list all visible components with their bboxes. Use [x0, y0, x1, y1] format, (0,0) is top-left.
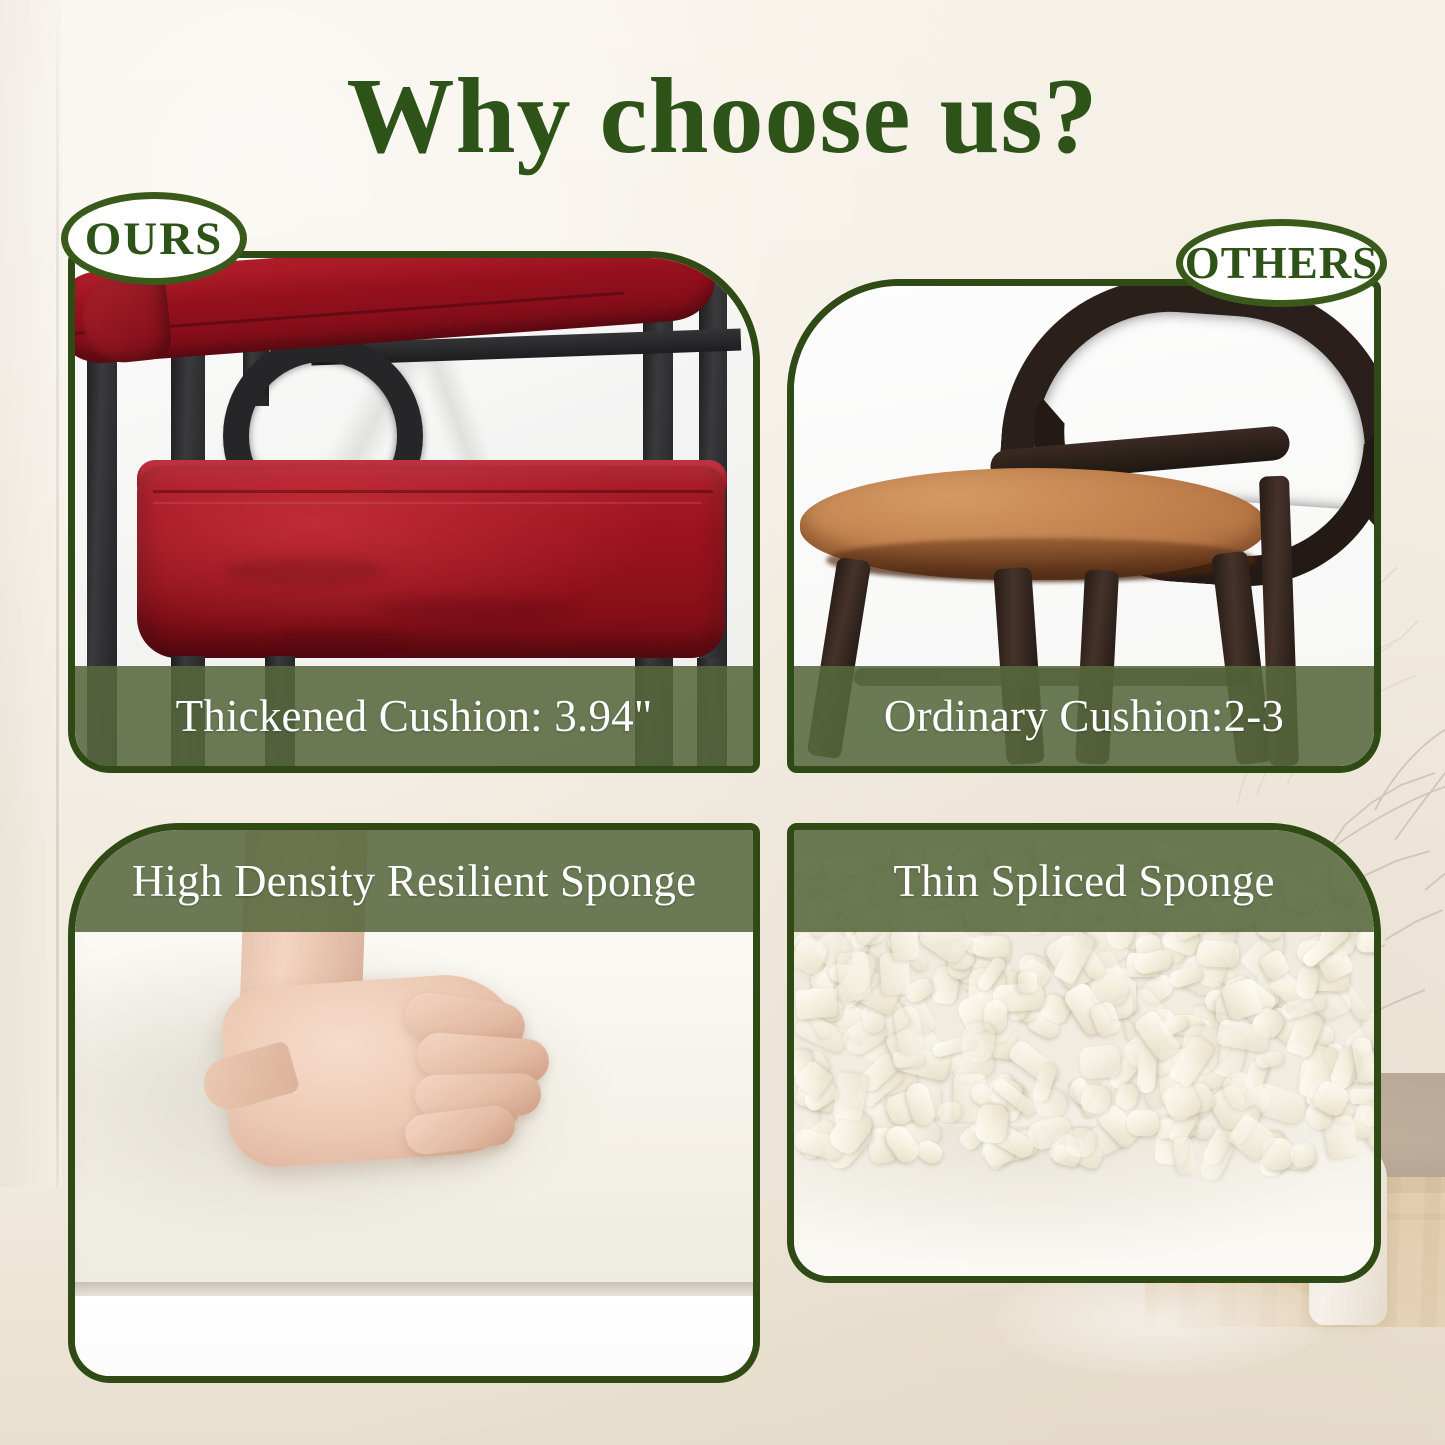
- page-title: Why choose us?: [0, 58, 1445, 177]
- panel-others-sponge: Thin Spliced Sponge: [787, 823, 1381, 1283]
- foam-base-surface: [75, 1296, 753, 1376]
- seat-wrinkle: [225, 558, 385, 584]
- infographic-canvas: Why choose us?: [0, 0, 1445, 1445]
- seat-underside-shadow: [826, 538, 1256, 582]
- foam-chunk: [837, 951, 872, 1001]
- background-wall-seam: [56, 0, 59, 1260]
- seat-wrinkle: [275, 628, 405, 646]
- foam-chunk: [795, 988, 838, 1020]
- foam-chunk: [975, 1103, 1010, 1144]
- foam-chunk: [973, 935, 1011, 957]
- foam-chunk: [1126, 1109, 1160, 1136]
- panel-ours-sponge: High Density Resilient Sponge: [68, 823, 760, 1383]
- seat-wrinkle: [375, 598, 575, 620]
- foam-chunk: [1078, 1044, 1121, 1080]
- caption-others-cushion: Ordinary Cushion:2-3: [794, 666, 1374, 766]
- seat-highlight-line: [153, 502, 701, 504]
- caption-ours-cushion: Thickened Cushion: 3.94": [75, 666, 753, 766]
- caption-others-sponge: Thin Spliced Sponge: [794, 830, 1374, 932]
- seat-stitch-line: [153, 490, 713, 493]
- badge-others: OTHERS: [1176, 219, 1387, 307]
- foam-chunk: [1196, 940, 1239, 969]
- foam-chunk: [1065, 1126, 1096, 1157]
- caption-ours-sponge: High Density Resilient Sponge: [75, 830, 753, 932]
- seat-cushion: [137, 466, 725, 658]
- badge-ours: OURS: [61, 192, 247, 285]
- panel-others-cushion: 2-3in Ordinary Cushion:2-3: [787, 279, 1381, 773]
- foam-chunk: [1018, 971, 1037, 993]
- panel-ours-cushion: 3.94in Thickened Cushion: 3.94": [68, 251, 760, 773]
- foam-chunk: [890, 928, 919, 961]
